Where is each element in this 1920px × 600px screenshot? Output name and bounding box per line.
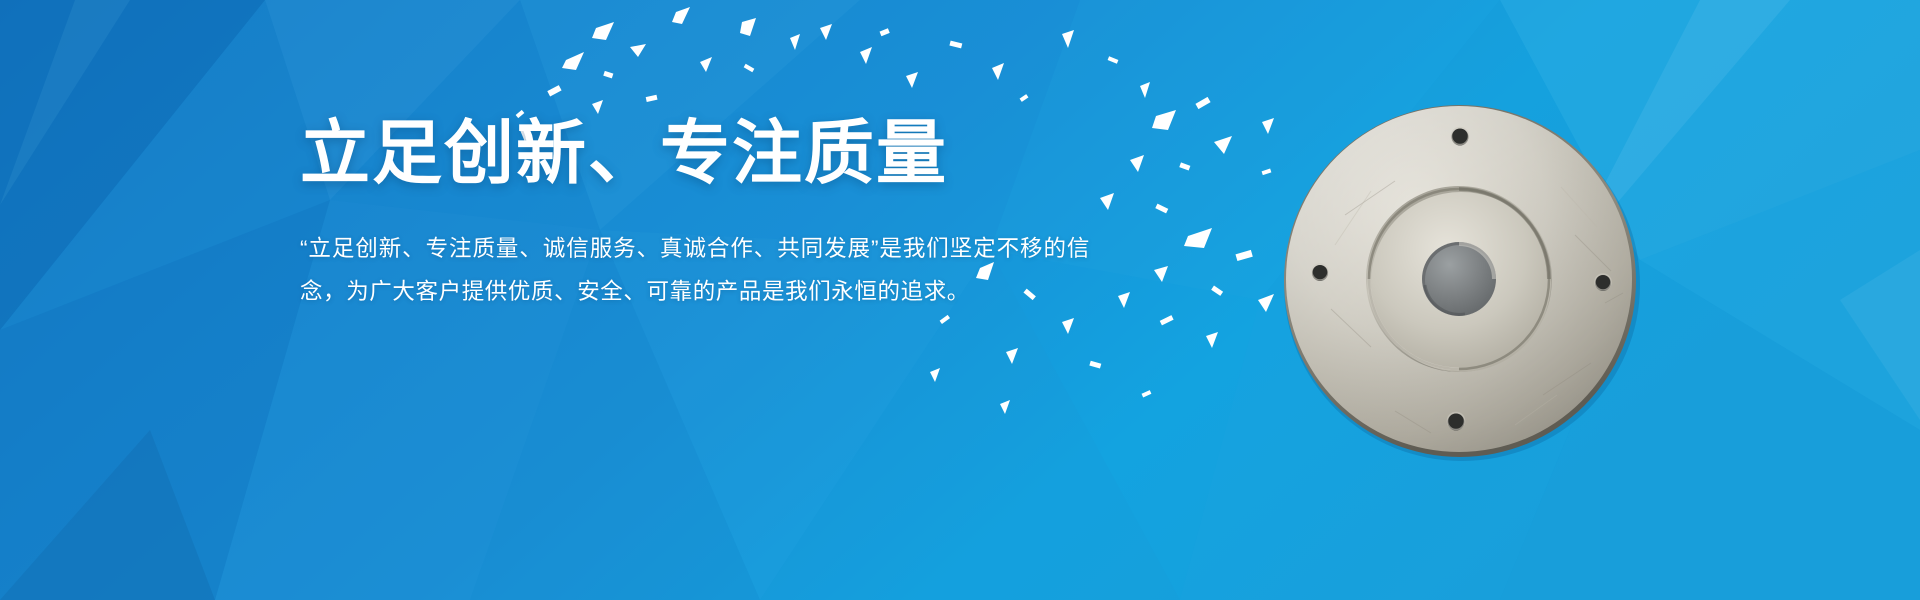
banner-copy: 立足创新、专注质量 “立足创新、专注质量、诚信服务、真诚合作、共同发展”是我们坚… <box>300 118 1180 313</box>
banner-headline: 立足创新、专注质量 <box>300 118 1180 189</box>
banner-paragraph: “立足创新、专注质量、诚信服务、真诚合作、共同发展”是我们坚定不移的信念，为广大… <box>300 227 1090 313</box>
hero-banner: 立足创新、专注质量 “立足创新、专注质量、诚信服务、真诚合作、共同发展”是我们坚… <box>0 0 1920 600</box>
product-photo-metal-flange <box>1275 95 1645 465</box>
metal-flange-disc-icon <box>1275 95 1645 465</box>
